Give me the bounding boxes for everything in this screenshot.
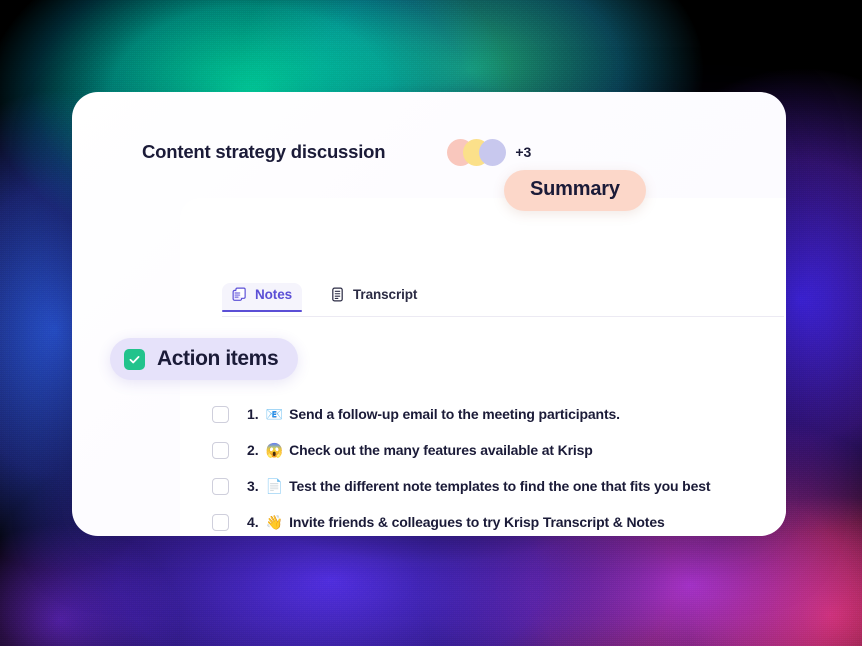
participants-group[interactable]: +3	[447, 139, 531, 166]
list-item[interactable]: 4. 👋 Invite friends & colleagues to try …	[212, 504, 784, 540]
list-item[interactable]: 3. 📄 Test the different note templates t…	[212, 468, 784, 504]
avatar[interactable]	[479, 139, 506, 166]
notes-pages-icon	[232, 287, 247, 302]
card-header: Content strategy discussion +3	[142, 135, 672, 169]
checkbox-checked-icon	[124, 349, 145, 370]
action-items-list: 1. 📧 Send a follow-up email to the meeti…	[212, 396, 784, 540]
tab-bar: Notes Transcript	[222, 283, 427, 312]
list-item[interactable]: 1. 📧 Send a follow-up email to the meeti…	[212, 396, 784, 432]
item-checkbox[interactable]	[212, 478, 229, 495]
summary-badge[interactable]: Summary	[504, 170, 646, 211]
item-index: 3.	[247, 478, 259, 494]
item-text: Check out the many features available at…	[289, 442, 593, 458]
item-index: 2.	[247, 442, 259, 458]
participants-more-count[interactable]: +3	[515, 144, 531, 160]
action-items-badge-label: Action items	[157, 347, 278, 371]
item-text: Invite friends & colleagues to try Krisp…	[289, 514, 664, 530]
item-checkbox[interactable]	[212, 442, 229, 459]
transcript-list-icon	[330, 287, 345, 302]
waving-hand-emoji: 👋	[266, 515, 283, 529]
page-document-emoji: 📄	[266, 479, 283, 493]
page-title: Content strategy discussion	[142, 141, 385, 163]
item-checkbox[interactable]	[212, 514, 229, 531]
tab-notes-label: Notes	[255, 287, 292, 302]
screaming-face-emoji: 😱	[266, 443, 283, 457]
avatar-stack[interactable]	[447, 139, 506, 166]
list-item[interactable]: 2. 😱 Check out the many features availab…	[212, 432, 784, 468]
item-index: 1.	[247, 406, 259, 422]
screenshot-stage: Content strategy discussion +3 Summary	[0, 0, 862, 646]
tab-notes[interactable]: Notes	[222, 283, 302, 312]
item-text: Send a follow-up email to the meeting pa…	[289, 406, 620, 422]
item-text: Test the different note templates to fin…	[289, 478, 710, 494]
summary-badge-label: Summary	[530, 178, 620, 200]
item-index: 4.	[247, 514, 259, 530]
tab-transcript[interactable]: Transcript	[320, 283, 427, 312]
email-emoji: 📧	[266, 407, 283, 421]
tab-transcript-label: Transcript	[353, 287, 417, 302]
tabs-divider	[222, 316, 784, 317]
action-items-badge[interactable]: Action items	[110, 338, 298, 380]
item-checkbox[interactable]	[212, 406, 229, 423]
